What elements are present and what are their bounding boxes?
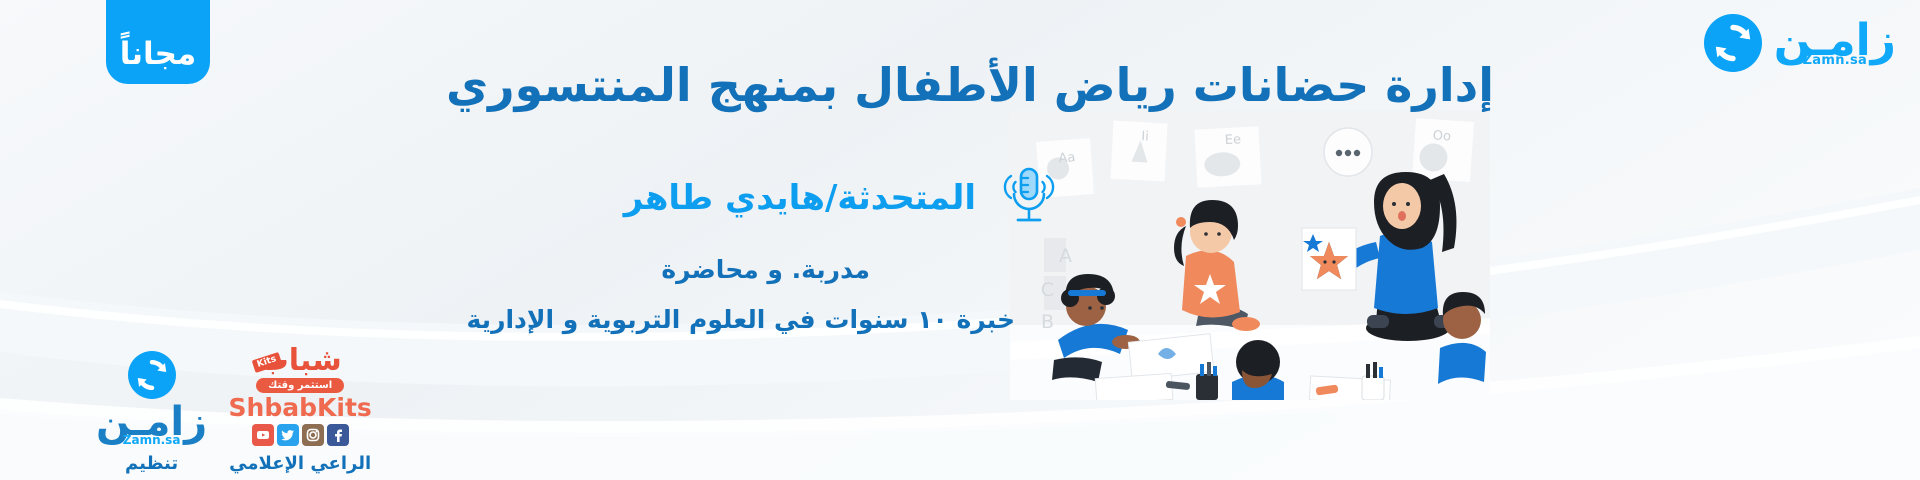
sync-arrows-icon [1704,14,1762,72]
brand-wordmark-latin: Zamn.sa [1803,54,1868,67]
speaker-row: المتحدثة/هايدي طاهر [624,163,1060,233]
promo-banner: مجاناً زامـن Zamn.sa إدارة حضانات رياض ا… [0,0,1920,480]
shbabkits-tagline: استثمر وقتك [256,378,344,393]
sponsor-logos: شباب Kits استثمر وقتك ShbabKits [96,346,371,475]
shbabkits-logo: شباب Kits استثمر وقتك ShbabKits [230,346,370,447]
microphone-icon [998,163,1060,233]
classroom-illustration: Aa Ii Ee Oo [1010,110,1490,400]
sponsor-zamn[interactable]: زامـن Zamn.sa تنظيم [96,351,207,474]
svg-text:Oo: Oo [1432,128,1451,144]
free-badge: مجاناً [106,0,210,84]
free-badge-label: مجاناً [120,39,196,70]
youtube-icon[interactable] [252,424,274,446]
speaker-name: المتحدثة/هايدي طاهر [624,178,976,218]
shbabkits-wordmark-arabic: شباب Kits [259,346,342,376]
sync-arrows-icon [128,351,176,402]
shbabkits-caption: الراعي الإعلامي [229,453,371,474]
svg-text:Ee: Ee [1224,132,1241,148]
svg-text:Aa: Aa [1058,150,1076,166]
page-title: إدارة حضانات رياض الأطفال بمنهج المنتسور… [350,55,1590,116]
speaker-role: مدربة. و محاضرة [661,255,870,284]
zamn-caption: تنظيم [125,453,178,474]
social-links [252,424,349,446]
zamn-logo-vertical: زامـن Zamn.sa [96,351,207,446]
svg-text:C: C [1041,279,1054,301]
brand-wordmark: زامـن Zamn.sa [1774,19,1896,67]
sponsor-shbabkits[interactable]: شباب Kits استثمر وقتك ShbabKits [229,346,371,475]
brand-logo-header[interactable]: زامـن Zamn.sa [1704,14,1896,72]
svg-text:Ii: Ii [1141,129,1149,144]
instagram-icon[interactable] [302,424,324,446]
svg-text:B: B [1041,311,1054,333]
svg-text:A: A [1059,245,1072,267]
shbabkits-wordmark-latin: ShbabKits [229,394,372,422]
twitter-icon[interactable] [277,424,299,446]
zamn-wordmark-latin: Zamn.sa [123,434,181,446]
speaker-experience: خبرة ١٠ سنوات في العلوم التربوية و الإدا… [467,305,1015,334]
facebook-icon[interactable] [327,424,349,446]
